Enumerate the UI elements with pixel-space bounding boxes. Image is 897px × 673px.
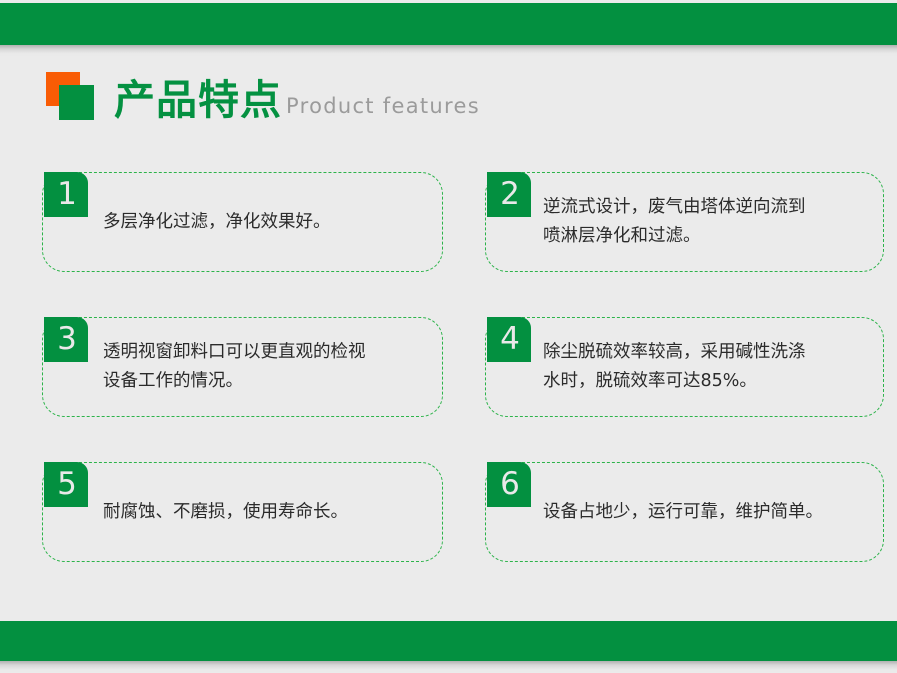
- feature-text-line: 多层净化过滤，净化效果好。: [103, 208, 425, 237]
- feature-number-badge: 6: [487, 462, 531, 507]
- bottom-green-bar: [0, 621, 897, 661]
- feature-number-badge: 3: [44, 317, 88, 362]
- feature-row-3: 5 耐腐蚀、不磨损，使用寿命长。 6 设备占地少，运行可靠，维护简单。: [0, 462, 897, 607]
- feature-text: 透明视窗卸料口可以更直观的检视 设备工作的情况。: [103, 317, 425, 417]
- feature-row-2: 3 透明视窗卸料口可以更直观的检视 设备工作的情况。 4 除尘脱硫效率较高，采用…: [0, 317, 897, 462]
- page-title-cn: 产品特点: [114, 78, 282, 122]
- feature-text-line: 除尘脱硫效率较高，采用碱性洗涤: [543, 338, 866, 367]
- bottom-bar-shadow: [0, 661, 897, 673]
- feature-text-line: 设备占地少，运行可靠，维护简单。: [543, 498, 866, 527]
- feature-number-badge: 4: [487, 317, 531, 362]
- page-title-en: Product features: [286, 93, 480, 119]
- green-square-icon: [59, 85, 94, 120]
- feature-card-2[interactable]: 2 逆流式设计，废气由塔体逆向流到 喷淋层净化和过滤。: [485, 172, 884, 272]
- feature-card-4[interactable]: 4 除尘脱硫效率较高，采用碱性洗涤 水时，脱硫效率可达85%。: [485, 317, 884, 417]
- feature-text: 逆流式设计，废气由塔体逆向流到 喷淋层净化和过滤。: [543, 172, 866, 272]
- feature-number-badge: 1: [44, 172, 88, 217]
- feature-text-line: 水时，脱硫效率可达85%。: [543, 367, 866, 396]
- feature-card-1[interactable]: 1 多层净化过滤，净化效果好。: [42, 172, 443, 272]
- feature-number-badge: 5: [44, 462, 88, 507]
- top-green-bar: [0, 3, 897, 45]
- feature-number-badge: 2: [487, 172, 531, 217]
- feature-row-1: 1 多层净化过滤，净化效果好。 2 逆流式设计，废气由塔体逆向流到 喷淋层净化和…: [0, 172, 897, 317]
- bottom-bar-group: [0, 618, 897, 673]
- feature-grid: 1 多层净化过滤，净化效果好。 2 逆流式设计，废气由塔体逆向流到 喷淋层净化和…: [0, 172, 897, 607]
- feature-text: 耐腐蚀、不磨损，使用寿命长。: [103, 462, 425, 562]
- feature-text-line: 喷淋层净化和过滤。: [543, 222, 866, 251]
- feature-text-line: 透明视窗卸料口可以更直观的检视: [103, 338, 425, 367]
- feature-text: 设备占地少，运行可靠，维护简单。: [543, 462, 866, 562]
- feature-card-3[interactable]: 3 透明视窗卸料口可以更直观的检视 设备工作的情况。: [42, 317, 443, 417]
- top-bar-group: [0, 0, 897, 57]
- feature-text-line: 耐腐蚀、不磨损，使用寿命长。: [103, 498, 425, 527]
- page-title: 产品特点 Product features: [46, 66, 480, 122]
- feature-card-5[interactable]: 5 耐腐蚀、不磨损，使用寿命长。: [42, 462, 443, 562]
- logo-mark-icon: [46, 72, 102, 120]
- feature-card-6[interactable]: 6 设备占地少，运行可靠，维护简单。: [485, 462, 884, 562]
- top-bar-shadow: [0, 45, 897, 57]
- feature-text: 除尘脱硫效率较高，采用碱性洗涤 水时，脱硫效率可达85%。: [543, 317, 866, 417]
- feature-text-line: 设备工作的情况。: [103, 367, 425, 396]
- feature-text-line: 逆流式设计，废气由塔体逆向流到: [543, 193, 866, 222]
- feature-text: 多层净化过滤，净化效果好。: [103, 172, 425, 272]
